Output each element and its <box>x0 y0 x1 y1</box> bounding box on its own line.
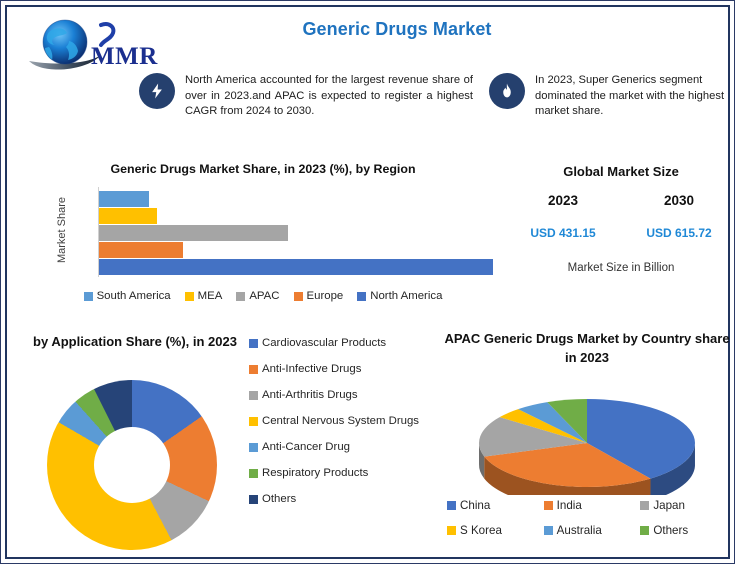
legend-item-others: Others <box>640 524 735 537</box>
legend-label: Others <box>653 524 688 537</box>
infographic-page: MMR Generic Drugs Market North America a… <box>0 0 735 564</box>
legend-swatch <box>249 469 258 478</box>
bar-row <box>99 242 497 258</box>
legend-label: S Korea <box>460 524 502 537</box>
page-title: Generic Drugs Market <box>187 19 607 40</box>
legend-swatch <box>249 495 258 504</box>
legend-label: China <box>460 499 490 512</box>
legend-item-apac: APAC <box>236 290 279 302</box>
legend-label: Cardiovascular Products <box>262 336 386 350</box>
bar-row <box>99 225 497 241</box>
legend-label: APAC <box>249 290 279 302</box>
legend-item-japan: Japan <box>640 499 735 512</box>
legend-item-others: Others <box>249 492 441 506</box>
legend-swatch <box>640 501 649 510</box>
legend-label: MEA <box>198 290 223 302</box>
bar-chart-y-axis-label: Market Share <box>27 195 97 265</box>
legend-label: Central Nervous System Drugs <box>262 414 419 428</box>
bar-chart-plot: Market Share <box>29 187 497 277</box>
pie-chart-legend: ChinaIndiaJapanS KoreaAustraliaOthers <box>437 499 735 537</box>
donut-center-hole <box>94 427 170 503</box>
bar-south-america <box>99 191 149 207</box>
application-share-donut-chart: by Application Share (%), in 2023 Cardio… <box>21 332 441 562</box>
legend-swatch <box>447 526 456 535</box>
apac-country-pie-chart: APAC Generic Drugs Market by Country sha… <box>437 329 735 564</box>
legend-item-cardiovascular-products: Cardiovascular Products <box>249 336 441 350</box>
page-border: MMR Generic Drugs Market North America a… <box>5 5 730 559</box>
legend-swatch <box>249 417 258 426</box>
legend-label: Australia <box>557 524 602 537</box>
bar-row <box>99 208 497 224</box>
legend-label: Japan <box>653 499 685 512</box>
legend-swatch <box>544 526 553 535</box>
market-size-unit-note: Market Size in Billion <box>505 262 735 274</box>
value-label: USD 431.15 <box>505 226 621 240</box>
legend-item-anti-arthritis-drugs: Anti-Arthritis Drugs <box>249 388 441 402</box>
legend-swatch <box>357 292 366 301</box>
donut-chart-title: by Application Share (%), in 2023 <box>21 332 249 351</box>
legend-item-mea: MEA <box>185 290 223 302</box>
mmr-globe-logo: MMR <box>25 17 175 75</box>
market-size-2030: 2030 USD 615.72 <box>621 193 735 240</box>
lightning-bolt-icon <box>139 73 175 109</box>
global-market-size-panel: Global Market Size 2023 USD 431.15 2030 … <box>505 162 735 302</box>
legend-swatch <box>249 391 258 400</box>
bar-europe <box>99 242 183 258</box>
legend-label: Anti-Arthritis Drugs <box>262 388 358 402</box>
legend-item-s-korea: S Korea <box>447 524 544 537</box>
bar-north-america <box>99 259 493 275</box>
legend-swatch <box>249 339 258 348</box>
bar-row <box>99 191 497 207</box>
bar-chart-legend: South AmericaMEAAPACEuropeNorth America <box>29 290 497 302</box>
bar-chart-title: Generic Drugs Market Share, in 2023 (%),… <box>29 162 497 176</box>
legend-label: Europe <box>307 290 344 302</box>
global-market-size-title: Global Market Size <box>505 164 735 179</box>
legend-swatch <box>294 292 303 301</box>
market-size-2023: 2023 USD 431.15 <box>505 193 621 240</box>
legend-label: Respiratory Products <box>262 466 368 480</box>
legend-swatch <box>249 443 258 452</box>
legend-swatch <box>544 501 553 510</box>
legend-item-australia: Australia <box>544 524 641 537</box>
region-bar-chart: Generic Drugs Market Share, in 2023 (%),… <box>29 162 497 312</box>
legend-item-south-america: South America <box>84 290 171 302</box>
legend-item-china: China <box>447 499 544 512</box>
legend-swatch <box>447 501 456 510</box>
legend-swatch <box>249 365 258 374</box>
legend-swatch <box>640 526 649 535</box>
pie-chart-title: APAC Generic Drugs Market by Country sha… <box>437 329 735 367</box>
legend-label: Others <box>262 492 296 506</box>
year-label: 2030 <box>621 193 735 208</box>
legend-item-central-nervous-system-drugs: Central Nervous System Drugs <box>249 414 441 428</box>
bar-chart-bars <box>99 191 497 276</box>
year-label: 2023 <box>505 193 621 208</box>
fact-text: In 2023, Super Generics segment dominate… <box>535 73 731 120</box>
legend-item-respiratory-products: Respiratory Products <box>249 466 441 480</box>
bar-mea <box>99 208 157 224</box>
fact-callout-north-america: North America accounted for the largest … <box>139 73 484 120</box>
legend-swatch <box>185 292 194 301</box>
flame-icon <box>489 73 525 109</box>
bar-row <box>99 259 497 275</box>
fact-callout-super-generics: In 2023, Super Generics segment dominate… <box>489 73 734 120</box>
legend-swatch <box>236 292 245 301</box>
bar-apac <box>99 225 288 241</box>
legend-label: Anti-Cancer Drug <box>262 440 350 454</box>
legend-item-north-america: North America <box>357 290 442 302</box>
legend-label: Anti-Infective Drugs <box>262 362 361 376</box>
legend-item-india: India <box>544 499 641 512</box>
svg-text:MMR: MMR <box>91 43 158 70</box>
legend-item-anti-infective-drugs: Anti-Infective Drugs <box>249 362 441 376</box>
fact-text: North America accounted for the largest … <box>185 73 473 120</box>
legend-label: South America <box>97 290 171 302</box>
legend-label: North America <box>370 290 442 302</box>
donut-chart-graphic <box>47 380 217 550</box>
legend-item-anti-cancer-drug: Anti-Cancer Drug <box>249 440 441 454</box>
value-label: USD 615.72 <box>621 226 735 240</box>
legend-swatch <box>84 292 93 301</box>
donut-chart-legend: Cardiovascular ProductsAnti-Infective Dr… <box>249 336 441 518</box>
pie-chart-graphic <box>467 385 707 495</box>
legend-item-europe: Europe <box>294 290 344 302</box>
legend-label: India <box>557 499 582 512</box>
